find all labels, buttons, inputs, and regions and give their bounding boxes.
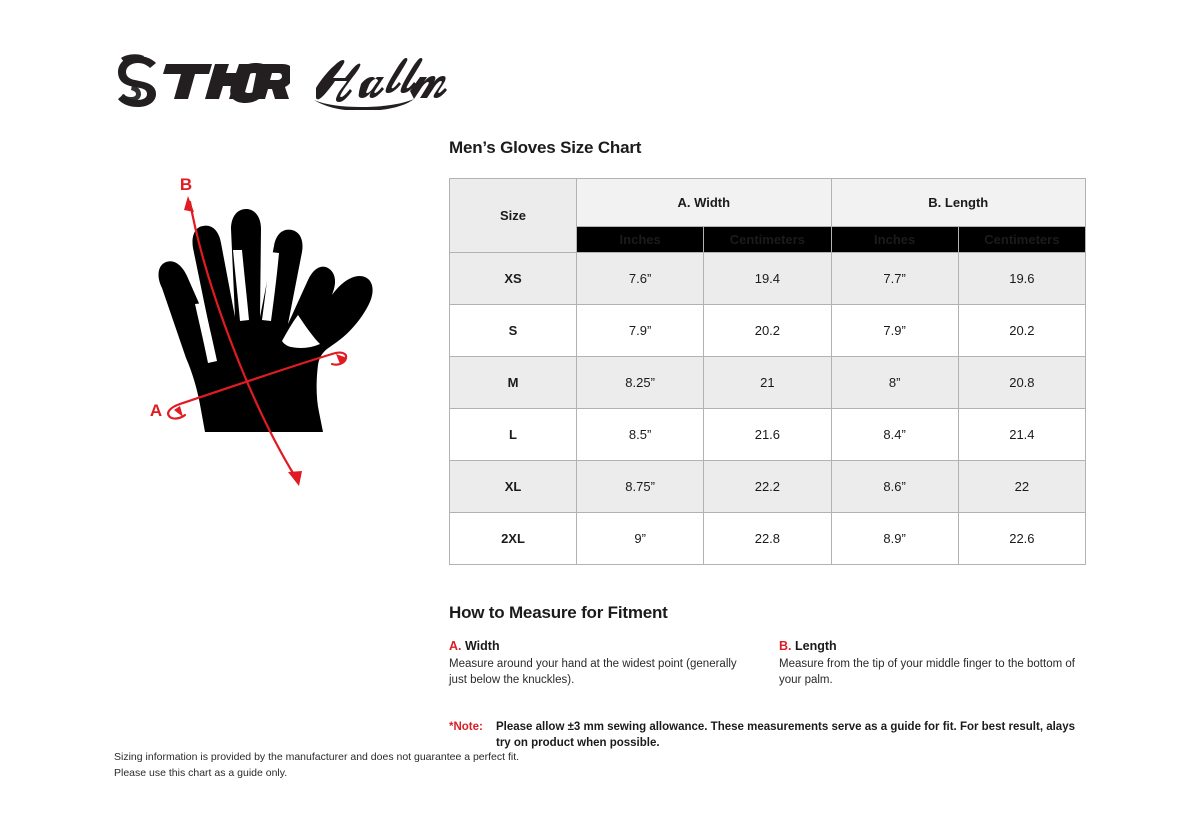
header-width-inches: Inches (577, 227, 704, 253)
note-label: *Note: (449, 719, 496, 752)
size-chart-table: Size A. Width B. Length Inches Centimete… (449, 178, 1086, 565)
cell-length-inches: 8.9” (831, 513, 958, 565)
thor-logo (114, 52, 290, 108)
cell-width-centimeters: 20.2 (704, 305, 831, 357)
measure-width-name: Width (465, 639, 500, 653)
cell-width-centimeters: 19.4 (704, 253, 831, 305)
footer-line-1: Sizing information is provided by the ma… (114, 749, 519, 765)
table-row: XS7.6”19.47.7”19.6 (450, 253, 1086, 305)
note-text: Please allow ±3 mm sewing allowance. The… (496, 719, 1086, 752)
cell-length-centimeters: 19.6 (958, 253, 1085, 305)
cell-length-inches: 8.4” (831, 409, 958, 461)
cell-size: L (450, 409, 577, 461)
cell-size: 2XL (450, 513, 577, 565)
how-to-measure-section: How to Measure for Fitment A. Width Meas… (449, 603, 1086, 689)
cell-length-centimeters: 22 (958, 461, 1085, 513)
table-row: XL8.75”22.28.6”22 (450, 461, 1086, 513)
measure-length-letter: B. (779, 639, 792, 653)
cell-length-inches: 7.7” (831, 253, 958, 305)
measure-width-text: Measure around your hand at the widest p… (449, 656, 749, 689)
table-row: L8.5”21.68.4”21.4 (450, 409, 1086, 461)
measure-width-heading: A. Width (449, 639, 779, 653)
header-length-inches: Inches (831, 227, 958, 253)
cell-length-inches: 8” (831, 357, 958, 409)
measure-width-letter: A. (449, 639, 462, 653)
cell-width-inches: 7.6” (577, 253, 704, 305)
cell-width-inches: 7.9” (577, 305, 704, 357)
measure-length-name: Length (795, 639, 837, 653)
size-chart-content: Men’s Gloves Size Chart Size A. Width B.… (449, 138, 1086, 752)
glove-measurement-diagram: B A (118, 160, 428, 540)
measure-length-text: Measure from the tip of your middle fing… (779, 656, 1079, 689)
cell-width-inches: 9” (577, 513, 704, 565)
how-to-measure-title: How to Measure for Fitment (449, 603, 1086, 623)
arrowhead-b-top (184, 196, 194, 212)
cell-length-centimeters: 22.6 (958, 513, 1085, 565)
measure-length-heading: B. Length (779, 639, 1086, 653)
cell-size: XS (450, 253, 577, 305)
footer-line-2: Please use this chart as a guide only. (114, 765, 519, 781)
header-size: Size (450, 179, 577, 253)
measure-item-width: A. Width Measure around your hand at the… (449, 639, 779, 689)
cell-size: XL (450, 461, 577, 513)
header-length-centimeters: Centimeters (958, 227, 1085, 253)
cell-width-centimeters: 22.8 (704, 513, 831, 565)
cell-size: M (450, 357, 577, 409)
header-width-centimeters: Centimeters (704, 227, 831, 253)
cell-length-centimeters: 20.8 (958, 357, 1085, 409)
table-header-group-row: Size A. Width B. Length (450, 179, 1086, 227)
cell-width-inches: 8.25” (577, 357, 704, 409)
table-row: M8.25”218”20.8 (450, 357, 1086, 409)
arrowhead-a-left (174, 406, 183, 417)
cell-size: S (450, 305, 577, 357)
page-title: Men’s Gloves Size Chart (449, 138, 1086, 158)
label-a: A (150, 401, 162, 420)
footer-disclaimer: Sizing information is provided by the ma… (114, 749, 519, 782)
cell-length-inches: 8.6” (831, 461, 958, 513)
cell-length-centimeters: 21.4 (958, 409, 1085, 461)
cell-width-inches: 8.5” (577, 409, 704, 461)
cell-width-centimeters: 21.6 (704, 409, 831, 461)
cell-width-centimeters: 22.2 (704, 461, 831, 513)
header-group-length: B. Length (831, 179, 1086, 227)
brand-logo-bar (114, 52, 474, 112)
cell-width-centimeters: 21 (704, 357, 831, 409)
cell-width-inches: 8.75” (577, 461, 704, 513)
label-b: B (180, 175, 192, 194)
table-row: 2XL9”22.88.9”22.6 (450, 513, 1086, 565)
note-row: *Note: Please allow ±3 mm sewing allowan… (449, 719, 1086, 752)
glove-silhouette (159, 209, 373, 432)
arrowhead-b-bottom (288, 471, 302, 486)
hallman-logo (308, 48, 448, 110)
header-group-width: A. Width (577, 179, 832, 227)
table-row: S7.9”20.27.9”20.2 (450, 305, 1086, 357)
cell-length-centimeters: 20.2 (958, 305, 1085, 357)
measure-item-length: B. Length Measure from the tip of your m… (779, 639, 1086, 689)
cell-length-inches: 7.9” (831, 305, 958, 357)
